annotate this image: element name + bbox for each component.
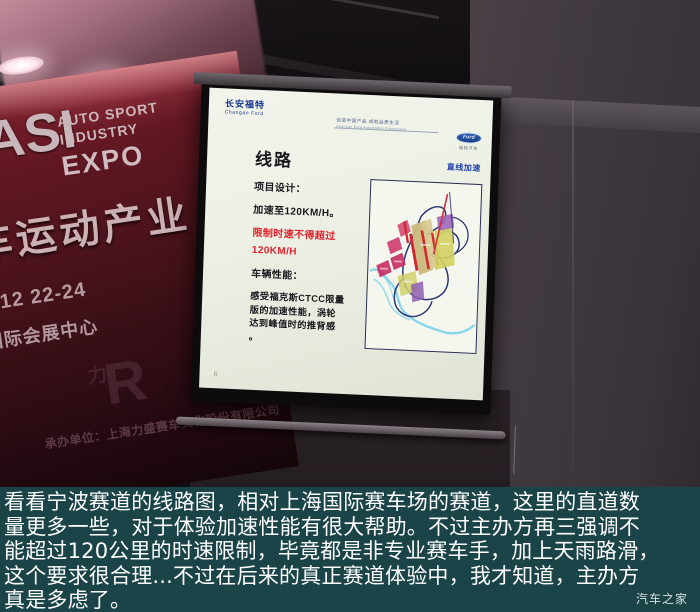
slide-body: 项目设计： 加速至120KM/H。 限制时速不得超过 120KM/H 车辆性能：… xyxy=(249,180,363,349)
photo-area: ASI AUTO SPORT INDUSTRY EXPO 车运动产业 7.12 … xyxy=(0,0,700,487)
ceiling-rail xyxy=(301,0,439,19)
caption-line: 量更多一些，对于体验加速性能有很大帮助。不过主办方再三强调不 xyxy=(4,515,696,540)
brand-name-en: Changan Ford xyxy=(225,109,265,118)
banner-date: 7.12 22-24 xyxy=(0,279,88,317)
circuit-map-svg xyxy=(366,180,482,353)
slide-body-line-warning: 120KM/H xyxy=(252,243,360,263)
map-callout-label: 直线加速 xyxy=(447,162,481,175)
brand-name-cn: 长安福特 xyxy=(225,98,265,110)
ford-logo: 福特汽车 xyxy=(455,132,482,152)
slide-body-line: 车辆性能： xyxy=(251,267,359,287)
ford-oval-icon xyxy=(456,132,482,144)
screenshot-root: ASI AUTO SPORT INDUSTRY EXPO 车运动产业 7.12 … xyxy=(0,0,700,612)
banner-venue: 国际会展中心 xyxy=(0,312,100,355)
presentation-slide: 长安福特 Changan Ford 创造中国产品 成就品质生活 Changan … xyxy=(199,88,493,401)
caption-bar: 看看宁波赛道的线路图，相对上海国际赛车场的赛道，这里的直道数 量更多一些，对于体… xyxy=(0,487,700,612)
ford-sub-label: 福特汽车 xyxy=(455,145,481,152)
caption-line: 这个要求很合理...不过在后来的真正赛道体验中，我才知道，主办方 xyxy=(4,564,696,589)
watermark: 汽车之家 xyxy=(636,590,688,607)
slide-title: 线路 xyxy=(255,145,294,172)
caption-line: 真是多虑了。 xyxy=(4,588,696,612)
wall-seam xyxy=(572,100,574,487)
caption-line: 看看宁波赛道的线路图，相对上海国际赛车场的赛道，这里的直道数 xyxy=(4,490,696,515)
banner-sponsor-mark: R xyxy=(100,346,152,419)
circuit-map xyxy=(364,179,482,354)
slide-body-line: 项目设计： xyxy=(254,180,362,200)
slide-page-number: 6 xyxy=(213,371,217,378)
banner-title-cn: 车运动产业 xyxy=(0,182,194,272)
projection-screen: 长安福特 Changan Ford 创造中国产品 成就品质生活 Changan … xyxy=(191,81,502,414)
changan-ford-logo: 长安福特 Changan Ford xyxy=(225,98,266,118)
slide-body-line: 加速至120KM/H。 xyxy=(253,203,361,223)
caption-line: 能超过120公里的时速限制，毕竟都是非专业赛车手，加上天雨路滑， xyxy=(4,539,696,564)
